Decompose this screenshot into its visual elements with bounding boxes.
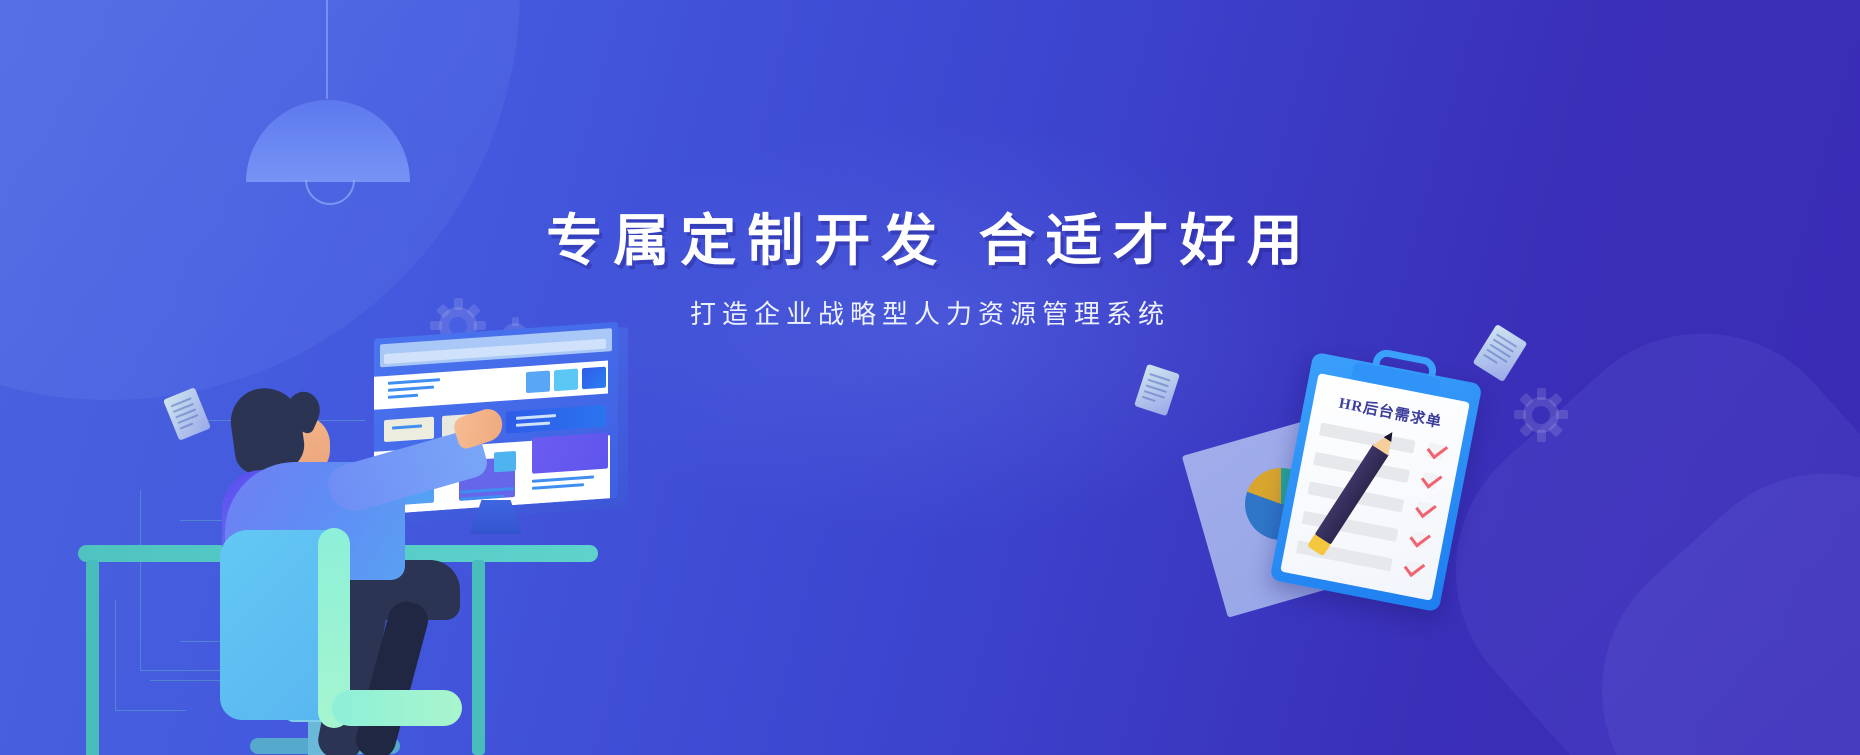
page-subtitle: 打造企业战略型人力资源管理系统 xyxy=(0,294,1860,331)
screen-chip xyxy=(526,371,550,394)
lamp-shade xyxy=(246,100,410,182)
document-icon-mid xyxy=(1134,364,1180,416)
hero-banner: HR后台需求单 专属定制开发 合适才好用 打造企业战略型人力资源管理系统 xyxy=(0,0,1860,755)
wire-5 xyxy=(115,600,186,711)
lamp-cord xyxy=(326,0,328,99)
screen-image-block xyxy=(532,432,608,473)
doc-line xyxy=(1142,396,1156,402)
screen-image-block xyxy=(494,451,516,473)
page-title: 专属定制开发 合适才好用 xyxy=(0,196,1860,277)
clipboard-line xyxy=(1319,422,1416,453)
document-icon-left xyxy=(163,387,211,441)
clipboard: HR后台需求单 xyxy=(1269,352,1482,613)
screen-chip xyxy=(582,367,606,390)
document-icon-right xyxy=(1473,324,1528,382)
chair-seat xyxy=(332,690,462,726)
right-diagonal-shape xyxy=(1394,272,1860,755)
desk-leg-right xyxy=(472,560,485,755)
right-diagonal-shape-2 xyxy=(1540,412,1860,755)
screen-chip xyxy=(554,369,578,392)
doc-line xyxy=(180,423,194,430)
desk-leg-left xyxy=(86,560,99,755)
gear-right xyxy=(1516,390,1566,440)
